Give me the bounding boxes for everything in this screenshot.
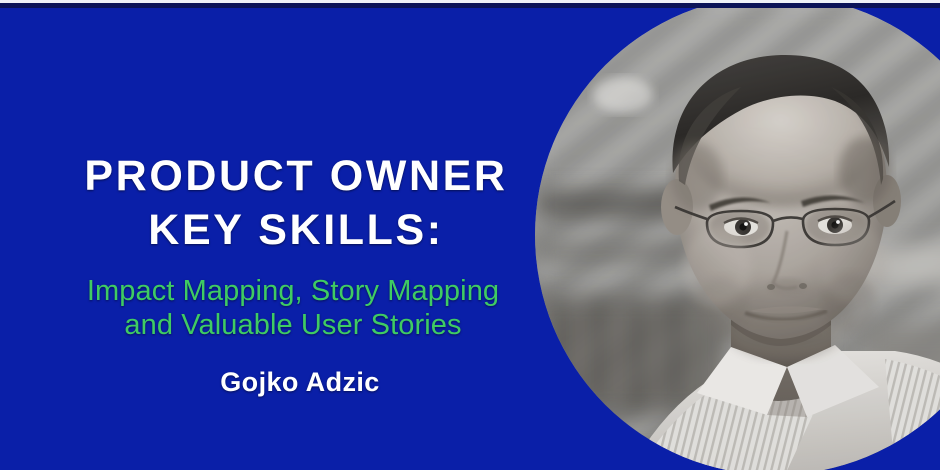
top-dark-strip [0,3,940,8]
subtitle-line-1: Impact Mapping, Story Mapping [0,277,586,306]
promo-banner: PRODUCT OWNER KEY SKILLS: Impact Mapping… [0,0,940,470]
portrait-photo-icon [535,0,940,470]
speaker-name: Gojko Adzic [0,369,600,396]
title-line-1: PRODUCT OWNER [0,155,592,198]
title-line-2: KEY SKILLS: [0,209,592,252]
text-content-block: PRODUCT OWNER KEY SKILLS: Impact Mapping… [0,0,592,470]
subtitle-line-2: and Valuable User Stories [0,311,586,340]
speaker-portrait [535,0,940,470]
